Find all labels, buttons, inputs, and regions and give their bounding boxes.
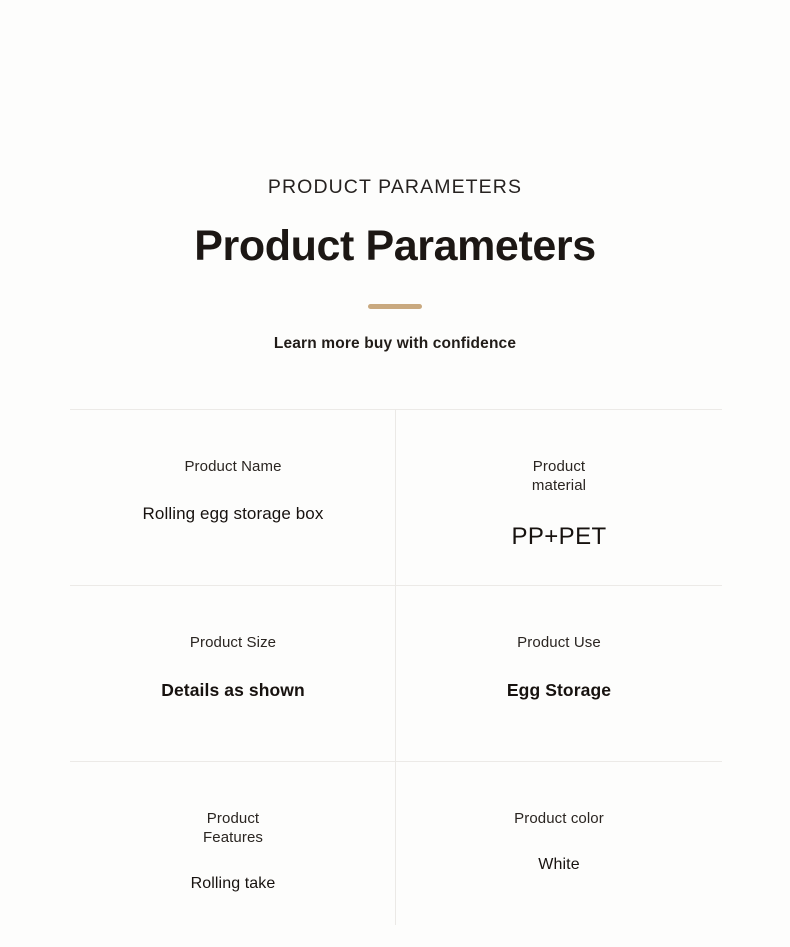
product-parameters-page: PRODUCT PARAMETERS Product Parameters Le…	[0, 0, 790, 946]
page-subtitle: Learn more buy with confidence	[0, 336, 790, 352]
table-row: Product Name Rolling egg storage box Pro…	[70, 409, 722, 585]
param-label: Product Use	[396, 633, 722, 652]
param-label: Product Name	[70, 457, 396, 476]
param-value: Rolling take	[70, 874, 396, 894]
param-cell-product-name: Product Name Rolling egg storage box	[70, 409, 396, 585]
param-value: PP+PET	[396, 522, 722, 553]
param-value: Details as shown	[161, 679, 305, 701]
param-cell-product-color: Product color White	[396, 761, 722, 947]
page-title: Product Parameters	[0, 225, 790, 268]
param-cell-product-features: Product Features Rolling take	[70, 761, 396, 947]
table-row: Product Size Details as shown Product Us…	[70, 585, 722, 761]
param-cell-product-use: Product Use Egg Storage	[396, 585, 722, 761]
param-cell-product-material: Product material PP+PET	[396, 409, 722, 585]
eyebrow-text: PRODUCT PARAMETERS	[0, 178, 790, 198]
param-value: White	[396, 855, 722, 875]
param-label: Product material	[516, 457, 602, 495]
accent-divider	[368, 304, 422, 309]
table-row: Product Features Rolling take Product co…	[70, 761, 722, 947]
param-value: Rolling egg storage box	[70, 503, 396, 525]
param-value: Egg Storage	[396, 679, 722, 701]
param-label: Product Size	[70, 633, 396, 652]
param-label: Product Features	[193, 809, 273, 847]
page-header: PRODUCT PARAMETERS Product Parameters Le…	[0, 0, 790, 351]
param-value-wrapper: Details as shown	[70, 679, 396, 701]
param-label: Product color	[396, 809, 722, 828]
parameters-grid: Product Name Rolling egg storage box Pro…	[70, 409, 722, 947]
param-cell-product-size: Product Size Details as shown	[70, 585, 396, 761]
